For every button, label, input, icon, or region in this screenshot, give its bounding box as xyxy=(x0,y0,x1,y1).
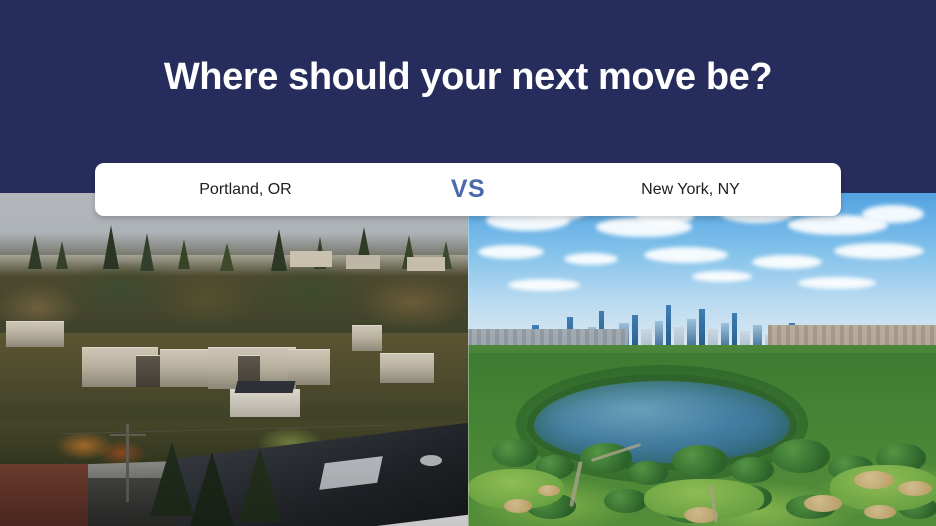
versus-label: VS xyxy=(422,175,514,204)
right-city-label[interactable]: New York, NY xyxy=(514,181,841,199)
portland-conifer-tree xyxy=(190,452,234,526)
portland-conifer-tree xyxy=(238,448,282,522)
portland-rooftops xyxy=(0,440,468,526)
portland-skyline-photo xyxy=(0,193,468,526)
left-city-label[interactable]: Portland, OR xyxy=(95,181,422,199)
portland-utility-pole xyxy=(126,424,129,502)
comparison-slide: Where should your next move be? Portland… xyxy=(0,0,936,526)
portland-brick-building xyxy=(0,464,88,526)
new-york-central-park-photo xyxy=(468,193,936,526)
portland-apartment-buildings xyxy=(0,343,468,413)
portland-roof-vent xyxy=(420,455,442,466)
city-comparison-card[interactable]: Portland, OR VS New York, NY xyxy=(95,163,841,216)
portland-conifer-tree xyxy=(150,442,194,516)
photo-divider xyxy=(468,193,469,526)
portland-ridge-treeline xyxy=(0,217,468,277)
page-title: Where should your next move be? xyxy=(0,57,936,99)
